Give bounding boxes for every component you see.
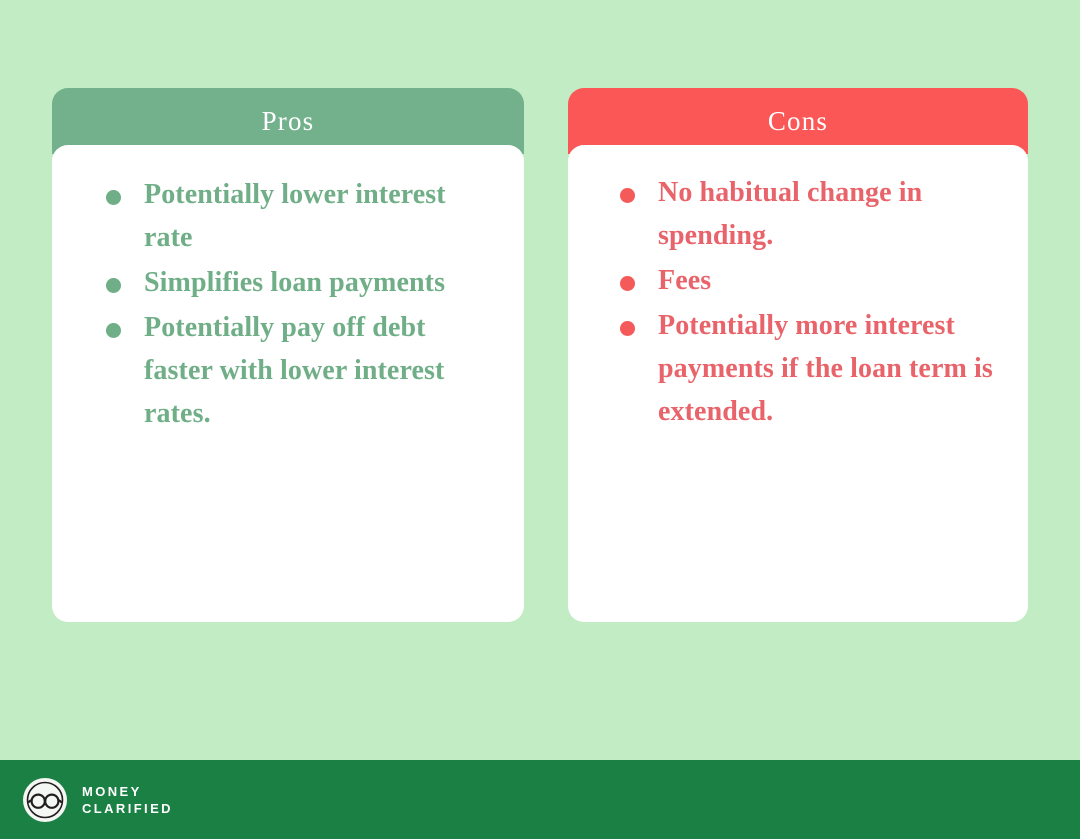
list-item-text: Potentially more interest payments if th… [658, 310, 993, 427]
bullet-dot-icon [106, 323, 121, 338]
list-item: Simplifies loan payments [106, 261, 498, 304]
brand-wordmark: MONEY CLARIFIED [82, 783, 173, 817]
infographic-canvas: Pros Potentially lower interest rate Sim… [0, 0, 1080, 839]
footer-bar: MONEY CLARIFIED [0, 760, 1080, 839]
list-item-text: Potentially pay off debt faster with low… [144, 312, 444, 429]
pros-card-body: Potentially lower interest rate Simplifi… [52, 145, 524, 622]
cons-title: Cons [768, 108, 828, 135]
list-item: Potentially pay off debt faster with low… [106, 306, 498, 435]
pros-card: Pros Potentially lower interest rate Sim… [52, 88, 524, 622]
pros-list: Potentially lower interest rate Simplifi… [106, 173, 498, 435]
list-item-text: No habitual change in spending. [658, 177, 922, 251]
bullet-dot-icon [620, 276, 635, 291]
list-item: Potentially more interest payments if th… [620, 304, 1002, 433]
cons-card: Cons No habitual change in spending. Fee… [556, 88, 1028, 622]
pros-title: Pros [262, 108, 315, 135]
brand-line-2: CLARIFIED [82, 800, 173, 817]
list-item: No habitual change in spending. [620, 171, 1002, 257]
cons-list: No habitual change in spending. Fees Pot… [620, 171, 1002, 433]
bullet-dot-icon [106, 278, 121, 293]
list-item-text: Simplifies loan payments [144, 267, 445, 298]
bullet-dot-icon [620, 188, 635, 203]
brand-line-1: MONEY [82, 783, 173, 800]
glasses-face-icon [22, 777, 68, 823]
bullet-dot-icon [106, 190, 121, 205]
cons-card-body: No habitual change in spending. Fees Pot… [568, 145, 1028, 622]
list-item: Potentially lower interest rate [106, 173, 498, 259]
list-item: Fees [620, 259, 1002, 302]
bullet-dot-icon [620, 321, 635, 336]
list-item-text: Fees [658, 265, 711, 296]
list-item-text: Potentially lower interest rate [144, 179, 446, 253]
